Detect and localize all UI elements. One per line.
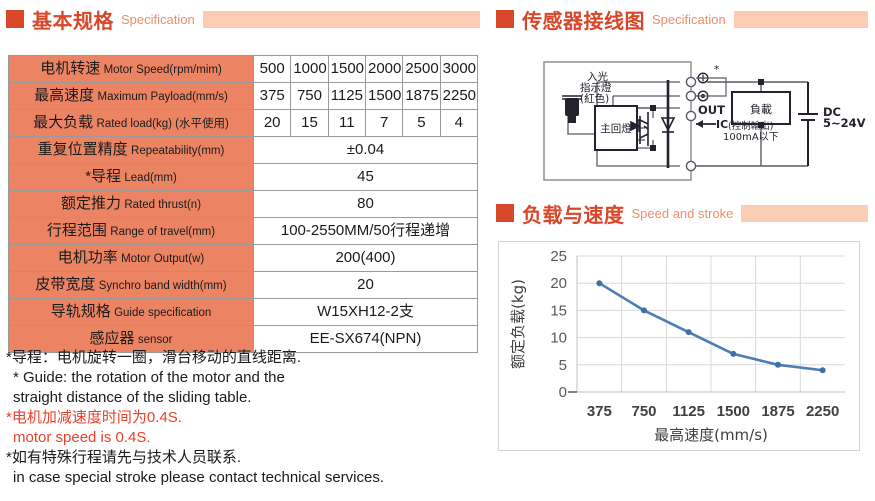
row-label-cn: 行程范围	[47, 222, 107, 239]
row-label-en: Lead(mm)	[124, 172, 176, 184]
note-line: * Guide: the rotation of the motor and t…	[6, 368, 486, 388]
y-axis-title: 额定负载(kg)	[509, 279, 527, 369]
table-cell: 200(400)	[254, 245, 478, 272]
transistor-symbol	[640, 112, 648, 146]
data-point	[641, 307, 647, 313]
table-cell: 500	[254, 56, 291, 83]
table-cell: 7	[365, 110, 402, 137]
wiring-title-cn: 传感器接线图	[522, 5, 645, 34]
load-speed-title-cn: 负载与速度	[522, 199, 625, 228]
table-cell: 2000	[365, 56, 402, 83]
accent-square-icon	[6, 10, 24, 28]
x-tick-label: 750	[631, 403, 656, 420]
table-cell: 750	[291, 83, 328, 110]
load-speed-chart: 05101520253757501125150018752250最高速度(mm/…	[498, 241, 860, 451]
table-row: 最高速度 Maximum Payload(mm/s)37575011251500…	[9, 83, 478, 110]
table-cell: 20	[254, 110, 291, 137]
row-label-en: Motor Speed(rpm/mim)	[104, 64, 222, 76]
ic-label: IC	[716, 118, 728, 131]
row-label-en: Rated load(kg) (水平使用)	[97, 118, 229, 130]
table-cell: 20	[254, 272, 478, 299]
table-row: *导程 Lead(mm)45	[9, 164, 478, 191]
row-label-en: Repeatability(mm)	[131, 145, 224, 157]
polarity-markers	[696, 73, 726, 101]
specification-table-body: 电机转速 Motor Speed(rpm/mim)500100015002000…	[9, 56, 478, 353]
row-label-en: Maximum Payload(mm/s)	[98, 91, 228, 103]
indicator-label-line3: (紅色)	[580, 92, 609, 105]
table-cell: 80	[254, 191, 478, 218]
data-point	[686, 329, 692, 335]
table-cell: 1875	[403, 83, 440, 110]
sensor-wiring-diagram: 主回燈	[540, 56, 870, 186]
table-row: 最大负载 Rated load(kg) (水平使用)201511754	[9, 110, 478, 137]
row-label: 行程范围 Range of travel(mm)	[9, 218, 254, 245]
load-label: 負載	[750, 103, 772, 116]
dc-source-symbol	[798, 82, 818, 166]
y-tick-label: 10	[550, 330, 567, 347]
row-label-en: sensor	[138, 334, 173, 346]
row-label-cn: 电机功率	[58, 249, 118, 266]
row-label-cn: 额定推力	[61, 195, 121, 212]
row-label-cn: 最大负载	[33, 114, 93, 131]
ic-note-label: (控制輸出)	[728, 120, 773, 132]
table-cell: 3000	[440, 56, 477, 83]
load-speed-title-en: Speed and stroke	[632, 206, 734, 221]
row-label: 最大负载 Rated load(kg) (水平使用)	[9, 110, 254, 137]
y-tick-label: 20	[550, 275, 567, 292]
row-label-cn: *导程	[85, 168, 121, 185]
table-cell: 45	[254, 164, 478, 191]
table-row: 行程范围 Range of travel(mm)100-2550MM/50行程递…	[9, 218, 478, 245]
load-speed-header-bar	[741, 205, 868, 222]
table-row: 额定推力 Rated thrust(n)80	[9, 191, 478, 218]
table-cell: 1500	[328, 56, 365, 83]
data-point	[820, 367, 826, 373]
y-tick-label: 25	[550, 248, 567, 265]
row-label: 电机功率 Motor Output(w)	[9, 245, 254, 272]
data-point	[775, 362, 781, 368]
note-line: motor speed is 0.4S.	[6, 428, 486, 448]
load-speed-chart-svg: 05101520253757501125150018752250最高速度(mm/…	[499, 242, 857, 448]
table-cell: 4	[440, 110, 477, 137]
note-line: straight distance of the sliding table.	[6, 388, 486, 408]
out-label: OUT	[698, 103, 725, 117]
specification-title-cn: 基本规格	[32, 5, 114, 34]
data-point	[730, 351, 736, 357]
load-speed-section-header: 负载与速度 Speed and stroke	[496, 200, 868, 226]
row-label-cn: 感应器	[90, 330, 135, 347]
wiring-title-en: Specification	[652, 12, 726, 27]
wiring-header-bar	[734, 11, 868, 28]
main-circuit-label: 主回燈	[600, 122, 632, 135]
asterisk-marker: *	[714, 63, 720, 76]
row-label: 重复位置精度 Repeatability(mm)	[9, 137, 254, 164]
table-cell: ±0.04	[254, 137, 478, 164]
photo-sensor-icon	[562, 96, 582, 123]
ic-current-label: 100mA以下	[723, 132, 779, 143]
accent-square-icon	[496, 204, 514, 222]
row-label: *导程 Lead(mm)	[9, 164, 254, 191]
table-cell: 100-2550MM/50行程递增	[254, 218, 478, 245]
table-cell: W15XH12-2支	[254, 299, 478, 326]
x-axis-title: 最高速度(mm/s)	[654, 426, 768, 444]
x-tick-label: 1875	[761, 403, 794, 420]
table-row: 导轨规格 Guide specificationW15XH12-2支	[9, 299, 478, 326]
row-label-cn: 导轨规格	[51, 303, 111, 320]
table-cell: 2500	[403, 56, 440, 83]
wiring-diagram-svg: 主回燈	[540, 56, 870, 186]
specification-header-bar	[203, 11, 480, 28]
y-tick-label: 0	[559, 384, 567, 401]
table-cell: 2250	[440, 83, 477, 110]
row-label-en: Guide specification	[114, 307, 211, 319]
table-cell: 1125	[328, 83, 365, 110]
data-point	[596, 280, 602, 286]
note-line: *导程：电机旋转一圈，滑台移动的直线距离.	[6, 348, 486, 368]
table-cell: 1500	[365, 83, 402, 110]
accent-square-icon	[496, 10, 514, 28]
x-tick-label: 1125	[672, 403, 705, 420]
x-tick-label: 375	[587, 403, 612, 420]
table-cell: 5	[403, 110, 440, 137]
row-label-en: Rated thrust(n)	[124, 199, 201, 211]
specification-section-header: 基本规格 Specification	[6, 6, 480, 32]
specification-notes: *导程：电机旋转一圈，滑台移动的直线距离.* Guide: the rotati…	[6, 348, 486, 488]
current-arrow-icon	[696, 120, 716, 128]
note-line: in case special stroke please contact te…	[6, 468, 486, 488]
table-row: 电机功率 Motor Output(w)200(400)	[9, 245, 478, 272]
table-cell: 375	[254, 83, 291, 110]
x-tick-label: 2250	[806, 403, 839, 420]
table-row: 皮带宽度 Synchro band width(mm)20	[9, 272, 478, 299]
table-row: 电机转速 Motor Speed(rpm/mim)500100015002000…	[9, 56, 478, 83]
table-cell: 15	[291, 110, 328, 137]
internal-bus	[662, 80, 674, 168]
row-label-en: Synchro band width(mm)	[99, 280, 227, 292]
y-tick-label: 15	[550, 302, 567, 319]
row-label-en: Motor Output(w)	[121, 253, 204, 265]
specification-title-en: Specification	[121, 12, 195, 27]
wiring-section-header: 传感器接线图 Specification	[496, 6, 868, 32]
row-label-cn: 皮带宽度	[35, 276, 95, 293]
row-label: 导轨规格 Guide specification	[9, 299, 254, 326]
note-line: *如有特殊行程请先与技术人员联系.	[6, 448, 486, 468]
row-label: 电机转速 Motor Speed(rpm/mim)	[9, 56, 254, 83]
row-label-cn: 最高速度	[34, 87, 94, 104]
specification-table: 电机转速 Motor Speed(rpm/mim)500100015002000…	[8, 55, 478, 353]
table-cell: 1000	[291, 56, 328, 83]
row-label-cn: 电机转速	[40, 60, 100, 77]
table-row: 重复位置精度 Repeatability(mm)±0.04	[9, 137, 478, 164]
row-label: 最高速度 Maximum Payload(mm/s)	[9, 83, 254, 110]
row-label: 皮带宽度 Synchro band width(mm)	[9, 272, 254, 299]
note-line: *电机加减速度时间为0.4S.	[6, 408, 486, 428]
row-label-cn: 重复位置精度	[38, 141, 128, 158]
table-cell: 11	[328, 110, 365, 137]
x-tick-label: 1500	[717, 403, 750, 420]
row-label: 额定推力 Rated thrust(n)	[9, 191, 254, 218]
row-label-en: Range of travel(mm)	[110, 226, 215, 238]
dc-range-label: 5~24V	[823, 116, 866, 130]
y-tick-label: 5	[559, 357, 567, 374]
